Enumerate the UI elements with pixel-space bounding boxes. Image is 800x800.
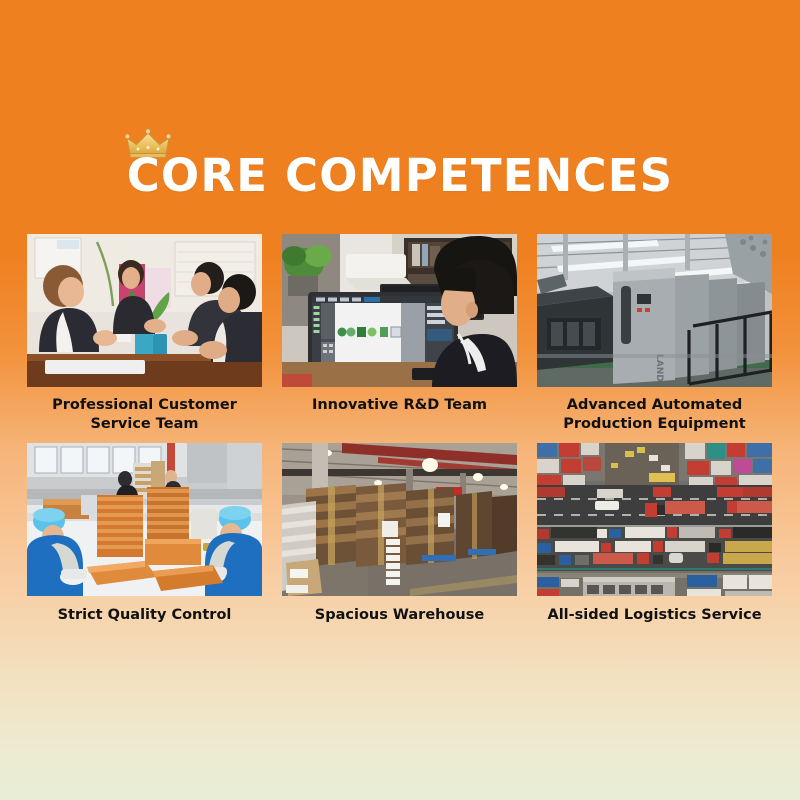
grid-item-spacious-warehouse[interactable]: Spacious Warehouse: [282, 443, 517, 625]
competences-grid: Professional Customer Service Team: [27, 234, 773, 625]
caption-spacious-warehouse: Spacious Warehouse: [282, 596, 517, 625]
caption-all-sided-logistics-service: All-sided Logistics Service: [537, 596, 772, 625]
grid-item-professional-customer-service-team[interactable]: Professional Customer Service Team: [27, 234, 262, 433]
title-wrap: CORE COMPETENCES: [127, 152, 674, 199]
photo-printing-press-line[interactable]: LAND 800: [537, 234, 772, 387]
caption-advanced-automated-production-equipment: Advanced Automated Production Equipment: [537, 387, 772, 433]
grid-item-all-sided-logistics-service[interactable]: All-sided Logistics Service: [537, 443, 772, 625]
page-title-block: CORE COMPETENCES: [0, 152, 800, 199]
photo-warehouse-pallets[interactable]: [282, 443, 517, 596]
grid-item-innovative-rd-team[interactable]: Innovative R&D Team: [282, 234, 517, 433]
caption-innovative-rd-team: Innovative R&D Team: [282, 387, 517, 415]
grid-item-strict-quality-control[interactable]: Strict Quality Control: [27, 443, 262, 625]
svg-text:LAND 800: LAND 800: [654, 354, 664, 387]
photo-designer-at-monitor[interactable]: [282, 234, 517, 387]
photo-aerial-container-yard[interactable]: [537, 443, 772, 596]
photo-customer-service-meeting[interactable]: [27, 234, 262, 387]
photo-quality-control-workshop[interactable]: [27, 443, 262, 596]
caption-strict-quality-control: Strict Quality Control: [27, 596, 262, 625]
poster-page: CORE COMPETENCES: [0, 0, 800, 800]
caption-professional-customer-service-team: Professional Customer Service Team: [27, 387, 262, 433]
grid-item-advanced-automated-production-equipment[interactable]: LAND 800: [537, 234, 772, 433]
page-title: CORE COMPETENCES: [127, 152, 674, 199]
